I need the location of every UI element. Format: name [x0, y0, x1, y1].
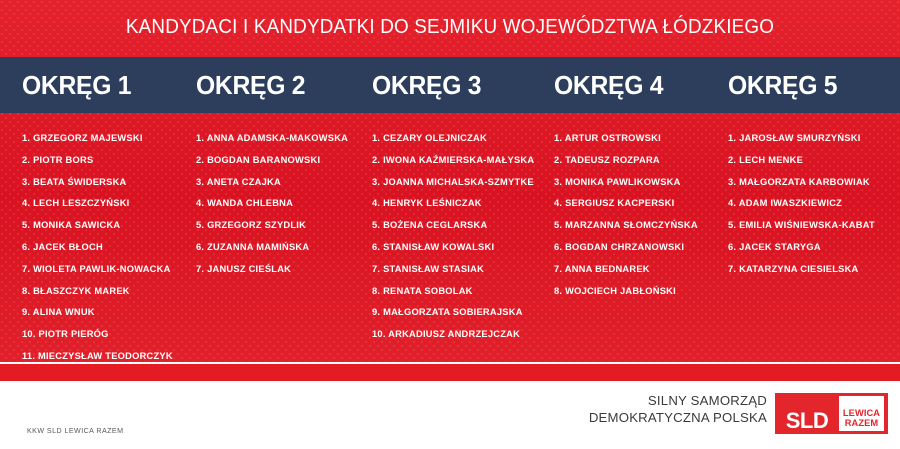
list-item: 3. ANETA CZAJKA — [196, 178, 348, 188]
district-heading-band: OKRĘG 1 OKRĘG 2 OKRĘG 3 OKRĘG 4 OKRĘG 5 — [0, 57, 900, 113]
list-item: 2. TADEUSZ ROZPARA — [554, 156, 698, 166]
list-item: 1. JAROSŁAW SMURZYŃSKI — [728, 134, 875, 144]
divider-red-bar — [0, 364, 900, 381]
list-item: 3. BEATA ŚWIDERSKA — [22, 178, 173, 188]
list-item: 3. MAŁGORZATA KARBOWIAK — [728, 178, 875, 188]
sld-logo-text: SLD — [786, 410, 829, 432]
list-item: 2. BOGDAN BARANOWSKI — [196, 156, 348, 166]
list-item: 4. LECH LESZCZYŃSKI — [22, 199, 173, 209]
list-item: 6. JACEK STARYGA — [728, 243, 875, 253]
slogan-line-2: DEMOKRATYCZNA POLSKA — [589, 410, 767, 427]
list-item: 1. ANNA ADAMSKA-MAKOWSKA — [196, 134, 348, 144]
list-item: 8. WOJCIECH JABŁOŃSKI — [554, 287, 698, 297]
list-item: 6. BOGDAN CHRZANOWSKI — [554, 243, 698, 253]
list-item: 5. EMILIA WIŚNIEWSKA-KABAT — [728, 221, 875, 231]
candidate-list-district-2: 1. ANNA ADAMSKA-MAKOWSKA 2. BOGDAN BARAN… — [196, 134, 353, 287]
list-item: 5. MONIKA SAWICKA — [22, 221, 173, 231]
list-item: 7. ANNA BEDNAREK — [554, 265, 698, 275]
list-item: 7. JANUSZ CIEŚLAK — [196, 265, 348, 275]
district-heading-4: OKRĘG 4 — [554, 69, 663, 101]
list-item: 3. JOANNA MICHALSKA-SZMYTKE — [372, 178, 534, 188]
list-item: 8. RENATA SOBOLAK — [372, 287, 534, 297]
district-heading-5: OKRĘG 5 — [728, 69, 837, 101]
list-item: 4. ADAM IWASZKIEWICZ — [728, 199, 875, 209]
poster-body: KANDYDACI I KANDYDATKI DO SEJMIKU WOJEWÓ… — [0, 0, 900, 362]
list-item: 5. MARZANNA SŁOMCZYŃSKA — [554, 221, 698, 231]
lewica-razem-line-1: LEWICA — [843, 408, 880, 419]
list-item: 10. PIOTR PIERÓG — [22, 330, 173, 340]
list-item: 3. MONIKA PAWLIKOWSKA — [554, 178, 698, 188]
list-item: 1. GRZEGORZ MAJEWSKI — [22, 134, 173, 144]
list-item: 7. KATARZYNA CIESIELSKA — [728, 265, 875, 275]
page-title: KANDYDACI I KANDYDATKI DO SEJMIKU WOJEWÓ… — [36, 14, 864, 40]
list-item: 2. PIOTR BORS — [22, 156, 173, 166]
list-item: 1. ARTUR OSTROWSKI — [554, 134, 698, 144]
district-heading-1: OKRĘG 1 — [22, 69, 131, 101]
district-heading-3: OKRĘG 3 — [372, 69, 481, 101]
list-item: 8. BŁASZCZYK MAREK — [22, 287, 173, 297]
footer: KKW SLD LEWICA RAZEM SILNY SAMORZĄD DEMO… — [0, 381, 900, 449]
list-item: 9. ALINA WNUK — [22, 308, 173, 318]
candidate-list-district-5: 1. JAROSŁAW SMURZYŃSKI 2. LECH MENKE 3. … — [728, 134, 879, 287]
candidate-list-district-4: 1. ARTUR OSTROWSKI 2. TADEUSZ ROZPARA 3.… — [554, 134, 702, 308]
list-item: 7. STANISŁAW STASIAK — [372, 265, 534, 275]
list-item: 2. IWONA KAŹMIERSKA-MAŁYSKA — [372, 156, 534, 166]
list-item: 9. MAŁGORZATA SOBIERAJSKA — [372, 308, 534, 318]
list-item: 5. GRZEGORZ SZYDLIK — [196, 221, 348, 231]
list-item: 2. LECH MENKE — [728, 156, 875, 166]
district-heading-row: OKRĘG 1 OKRĘG 2 OKRĘG 3 OKRĘG 4 OKRĘG 5 — [22, 57, 880, 113]
campaign-slogan: SILNY SAMORZĄD DEMOKRATYCZNA POLSKA — [589, 393, 767, 426]
candidate-list-district-1: 1. GRZEGORZ MAJEWSKI 2. PIOTR BORS 3. BE… — [22, 134, 178, 362]
list-item: 1. CEZARY OLEJNICZAK — [372, 134, 534, 144]
sld-logo: SLD LEWICA RAZEM — [775, 393, 888, 434]
list-item: 4. HENRYK LEŚNICZAK — [372, 199, 534, 209]
lewica-razem-line-2: RAZEM — [845, 418, 879, 429]
list-item: 7. WIOLETA PAWLIK-NOWACKA — [22, 265, 173, 275]
list-item: 6. ZUZANNA MAMIŃSKA — [196, 243, 348, 253]
sld-logo-wordmark: SLD — [775, 393, 839, 434]
candidate-list-district-3: 1. CEZARY OLEJNICZAK 2. IWONA KAŹMIERSKA… — [372, 134, 539, 352]
lewica-razem-badge: LEWICA RAZEM — [839, 396, 884, 431]
list-item: 6. JACEK BŁOCH — [22, 243, 173, 253]
slogan-line-1: SILNY SAMORZĄD — [589, 393, 767, 410]
list-item: 10. ARKADIUSZ ANDRZEJCZAK — [372, 330, 534, 340]
list-item: 6. STANISŁAW KOWALSKI — [372, 243, 534, 253]
list-item: 5. BOŻENA CEGLARSKA — [372, 221, 534, 231]
election-committee-label: KKW SLD LEWICA RAZEM — [27, 426, 123, 435]
district-heading-2: OKRĘG 2 — [196, 69, 305, 101]
list-item: 4. SERGIUSZ KACPERSKI — [554, 199, 698, 209]
list-item: 4. WANDA CHLEBNA — [196, 199, 348, 209]
candidate-columns: 1. GRZEGORZ MAJEWSKI 2. PIOTR BORS 3. BE… — [0, 113, 900, 362]
list-item: 11. MIECZYSŁAW TEODORCZYK — [22, 352, 173, 362]
